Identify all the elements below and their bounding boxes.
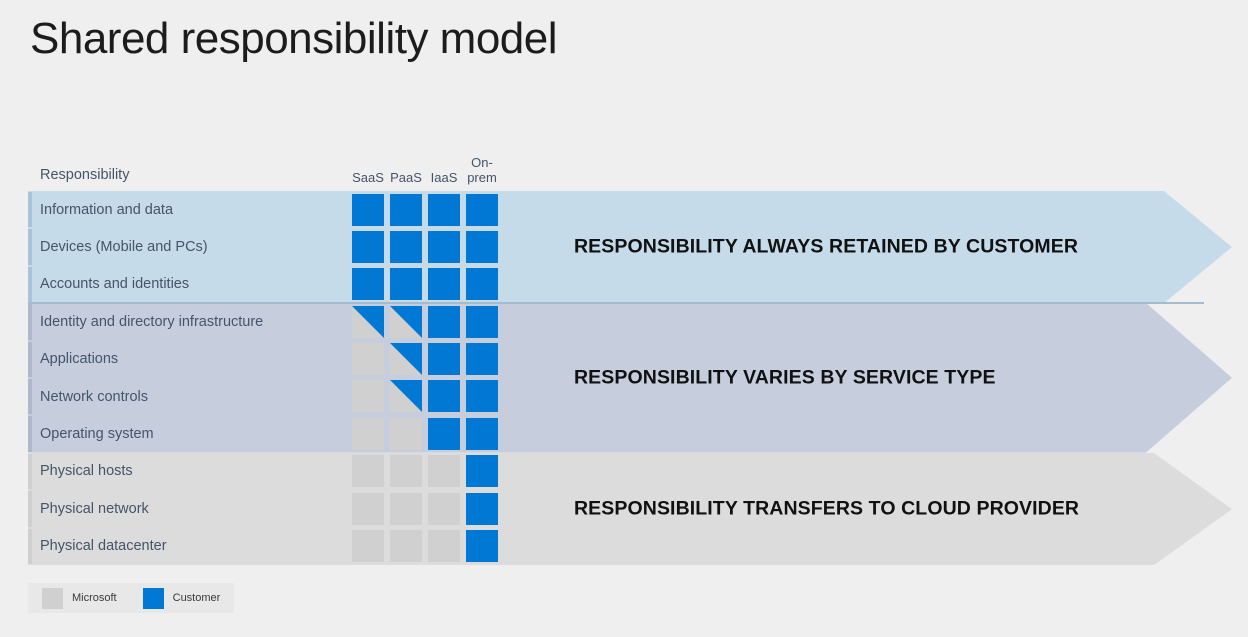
row-label: Identity and directory infrastructure: [40, 314, 263, 330]
legend-item-customer: Customer: [143, 588, 221, 609]
row-cells: [350, 415, 506, 452]
column-header-paas: PaaS: [388, 170, 424, 185]
table-row: Accounts and identities: [28, 266, 506, 303]
matrix-cell-iaas[interactable]: [428, 530, 460, 562]
matrix-cell-iaas[interactable]: [428, 493, 460, 525]
table-row: Identity and directory infrastructure: [28, 303, 506, 340]
matrix-cell-onprem[interactable]: [466, 231, 498, 263]
matrix-cell-paas[interactable]: [390, 530, 422, 562]
band-label: RESPONSIBILITY TRANSFERS TO CLOUD PROVID…: [574, 497, 1079, 520]
row-label: Network controls: [40, 389, 148, 405]
matrix-cell-onprem[interactable]: [466, 268, 498, 300]
column-header-responsibility: Responsibility: [40, 167, 129, 183]
matrix-cell-paas[interactable]: [390, 194, 422, 226]
legend-label: Customer: [173, 592, 221, 604]
table-row: Information and data: [28, 191, 506, 228]
table-header-row: Responsibility SaaS PaaS IaaS On-prem: [28, 138, 506, 191]
responsibility-matrix-table: Responsibility SaaS PaaS IaaS On-prem In…: [28, 138, 506, 565]
matrix-cell-saas[interactable]: [352, 194, 384, 226]
row-cells: [350, 228, 506, 265]
matrix-cell-onprem[interactable]: [466, 455, 498, 487]
matrix-cell-paas[interactable]: [390, 418, 422, 450]
row-cells: [350, 266, 506, 303]
table-row: Physical hosts: [28, 453, 506, 490]
matrix-cell-iaas[interactable]: [428, 306, 460, 338]
row-cells: [350, 303, 506, 340]
table-row: Physical datacenter: [28, 528, 506, 565]
matrix-cell-paas[interactable]: [390, 343, 422, 375]
matrix-cell-saas[interactable]: [352, 343, 384, 375]
matrix-cell-iaas[interactable]: [428, 418, 460, 450]
row-cells: [350, 528, 506, 565]
table-row: Devices (Mobile and PCs): [28, 228, 506, 265]
matrix-cell-paas[interactable]: [390, 493, 422, 525]
column-header-onprem: On-prem: [464, 155, 500, 185]
table-row: Applications: [28, 341, 506, 378]
row-cells: [350, 378, 506, 415]
row-label: Information and data: [40, 202, 173, 218]
legend-swatch-customer: [143, 588, 164, 609]
table-row: Physical network: [28, 490, 506, 527]
matrix-cell-saas[interactable]: [352, 455, 384, 487]
row-label: Operating system: [40, 426, 154, 442]
matrix-cell-iaas[interactable]: [428, 268, 460, 300]
row-label: Physical network: [40, 501, 149, 517]
page-title: Shared responsibility model: [30, 14, 557, 64]
table-rows-group: Information and dataDevices (Mobile and …: [28, 191, 506, 565]
matrix-cell-onprem[interactable]: [466, 530, 498, 562]
matrix-cell-iaas[interactable]: [428, 231, 460, 263]
matrix-cell-onprem[interactable]: [466, 194, 498, 226]
row-cells: [350, 453, 506, 490]
matrix-cell-paas[interactable]: [390, 268, 422, 300]
matrix-cell-saas[interactable]: [352, 306, 384, 338]
legend: MicrosoftCustomer: [28, 583, 234, 613]
row-label: Physical hosts: [40, 463, 133, 479]
matrix-cell-paas[interactable]: [390, 306, 422, 338]
matrix-cell-saas[interactable]: [352, 493, 384, 525]
table-row: Network controls: [28, 378, 506, 415]
matrix-cell-onprem[interactable]: [466, 493, 498, 525]
matrix-cell-paas[interactable]: [390, 455, 422, 487]
matrix-cell-saas[interactable]: [352, 231, 384, 263]
matrix-cell-paas[interactable]: [390, 231, 422, 263]
matrix-cell-onprem[interactable]: [466, 343, 498, 375]
band-label: RESPONSIBILITY ALWAYS RETAINED BY CUSTOM…: [574, 236, 1078, 259]
matrix-cell-onprem[interactable]: [466, 418, 498, 450]
matrix-cell-saas[interactable]: [352, 268, 384, 300]
matrix-cell-onprem[interactable]: [466, 306, 498, 338]
matrix-cell-iaas[interactable]: [428, 194, 460, 226]
legend-swatch-microsoft: [42, 588, 63, 609]
matrix-cell-iaas[interactable]: [428, 380, 460, 412]
row-cells: [350, 490, 506, 527]
matrix-cell-saas[interactable]: [352, 380, 384, 412]
shared-responsibility-diagram: RESPONSIBILITY ALWAYS RETAINED BY CUSTOM…: [0, 138, 1248, 568]
legend-item-microsoft: Microsoft: [42, 588, 117, 609]
matrix-cell-onprem[interactable]: [466, 380, 498, 412]
matrix-cell-iaas[interactable]: [428, 343, 460, 375]
column-header-iaas: IaaS: [426, 170, 462, 185]
matrix-cell-iaas[interactable]: [428, 455, 460, 487]
matrix-cell-paas[interactable]: [390, 380, 422, 412]
band-label: RESPONSIBILITY VARIES BY SERVICE TYPE: [574, 366, 996, 389]
table-row: Operating system: [28, 415, 506, 452]
row-cells: [350, 341, 506, 378]
column-headers-group: SaaS PaaS IaaS On-prem: [350, 138, 506, 188]
row-label: Applications: [40, 351, 118, 367]
matrix-cell-saas[interactable]: [352, 530, 384, 562]
legend-label: Microsoft: [72, 592, 117, 604]
matrix-cell-saas[interactable]: [352, 418, 384, 450]
row-cells: [350, 191, 506, 228]
column-header-saas: SaaS: [350, 170, 386, 185]
row-label: Accounts and identities: [40, 276, 189, 292]
row-label: Devices (Mobile and PCs): [40, 239, 208, 255]
row-label: Physical datacenter: [40, 538, 167, 554]
